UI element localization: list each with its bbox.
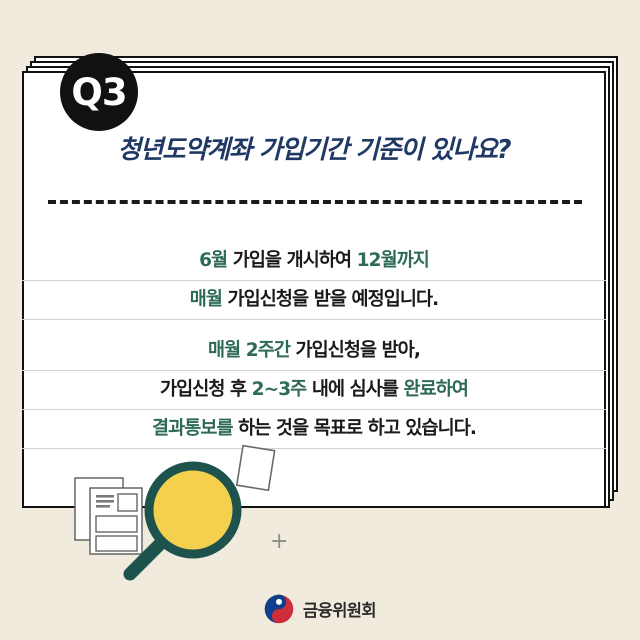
body-text: 가입신청 후 <box>160 379 252 400</box>
question-number-badge: Q3 <box>60 53 138 131</box>
body-text: 가입신청을 받을 예정입니다. <box>222 289 438 310</box>
document-text-line <box>96 500 114 503</box>
answer-line: 매월 가입신청을 받을 예정입니다. <box>22 281 606 320</box>
document-block <box>96 536 137 551</box>
highlight-text: 6월 <box>199 250 227 271</box>
highlight-text: 결과통보를 <box>152 418 233 439</box>
body-text: 가입신청을 받아, <box>290 340 420 361</box>
answer-paragraph-2: 매월 2주간 가입신청을 받아, 가입신청 후 2~3주 내에 심사를 완료하여… <box>22 332 606 449</box>
body-text: 하는 것을 목표로 하고 있습니다. <box>233 418 476 439</box>
highlight-text: 매월 2주간 <box>208 340 290 361</box>
tilted-paper-icon <box>237 446 275 491</box>
document-text-line <box>96 495 114 498</box>
document-text-line <box>96 505 110 508</box>
magnifier-lens <box>149 466 237 554</box>
infographic-canvas: Q3 청년도약계좌 가입기간 기준이 있나요? 6월 가입을 개시하여 12월까… <box>0 0 640 640</box>
page-title: 청년도약계좌 가입기간 기준이 있나요? <box>22 129 606 166</box>
taegeuk-emblem-icon <box>264 594 294 624</box>
answer-paragraph-1: 6월 가입을 개시하여 12월까지 매월 가입신청을 받을 예정입니다. <box>22 242 606 320</box>
document-block <box>96 516 137 532</box>
magnifying-glass-illustration <box>60 440 320 590</box>
answer-line: 6월 가입을 개시하여 12월까지 <box>22 242 606 281</box>
answer-line: 매월 2주간 가입신청을 받아, <box>22 332 606 371</box>
answer-line: 가입신청 후 2~3주 내에 심사를 완료하여 <box>22 371 606 410</box>
body-text: 내에 심사를 <box>306 379 403 400</box>
footer-organization-label: 금융위원회 <box>303 597 376 621</box>
highlight-text: 완료하여 <box>404 379 468 400</box>
highlight-text: 매월 <box>190 289 222 310</box>
body-text: 가입을 개시하여 <box>227 250 356 271</box>
question-number-label: Q3 <box>71 74 126 111</box>
highlight-text: 2~3주 <box>252 379 307 400</box>
footer: 금융위원회 <box>0 594 640 624</box>
highlight-text: 12월까지 <box>357 250 429 271</box>
dashed-divider <box>48 200 582 204</box>
document-thumb-block <box>118 494 137 511</box>
